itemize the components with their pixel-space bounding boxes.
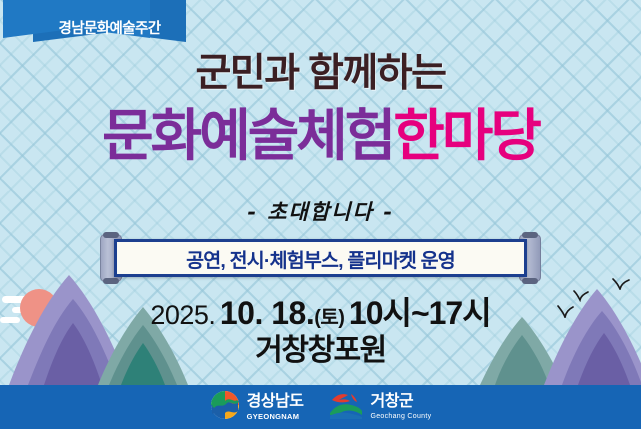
scroll-paper: 공연, 전시·체험부스, 플리마켓 운영: [114, 239, 527, 277]
ribbon-label: 경남문화예술주간: [33, 17, 186, 38]
scroll-cap-icon: [103, 278, 119, 284]
logo-geochang: 거창군 Geochang County: [329, 391, 431, 424]
logo-gyeongnam-text: 경상남도 GYEONGNAM: [247, 394, 304, 421]
scroll-cap-icon: [522, 232, 538, 238]
program-scroll-banner: 공연, 전시·체험부스, 플리마켓 운영: [100, 234, 541, 282]
page-title-line1: 군민과 함께하는: [0, 54, 641, 93]
page-title-line2-primary: 문화예술체험: [102, 104, 393, 167]
scroll-cap-icon: [522, 278, 538, 284]
logo-gyeongnam-kr: 경상남도: [247, 394, 304, 410]
logo-geochang-text: 거창군 Geochang County: [370, 394, 431, 420]
invitation-text: - 초대합니다 -: [0, 196, 641, 226]
logo-geochang-en: Geochang County: [370, 413, 431, 420]
event-poster: 경남문화예술주간 군민과 함께하는 문화예술체험한마당 - 초대합니다 - 공연…: [0, 0, 641, 429]
logo-gyeongnam-en: GYEONGNAM: [247, 413, 304, 421]
scroll-cap-icon: [103, 232, 119, 238]
program-banner-text: 공연, 전시·체험부스, 플리마켓 운영: [186, 244, 455, 273]
geochang-bird-emblem-icon: [329, 391, 363, 424]
logo-geochang-kr: 거창군: [370, 394, 431, 410]
page-title-line2-accent: 한마당: [393, 104, 539, 167]
event-venue: 거창창포원: [0, 325, 641, 369]
logo-gyeongnam: 경상남도 GYEONGNAM: [210, 390, 304, 425]
page-title-line2: 문화예술체험한마당: [0, 108, 641, 164]
gyeongnam-sun-emblem-icon: [210, 390, 240, 425]
footer-logo-bar: 경상남도 GYEONGNAM 거창군 Geochang County: [0, 385, 641, 429]
